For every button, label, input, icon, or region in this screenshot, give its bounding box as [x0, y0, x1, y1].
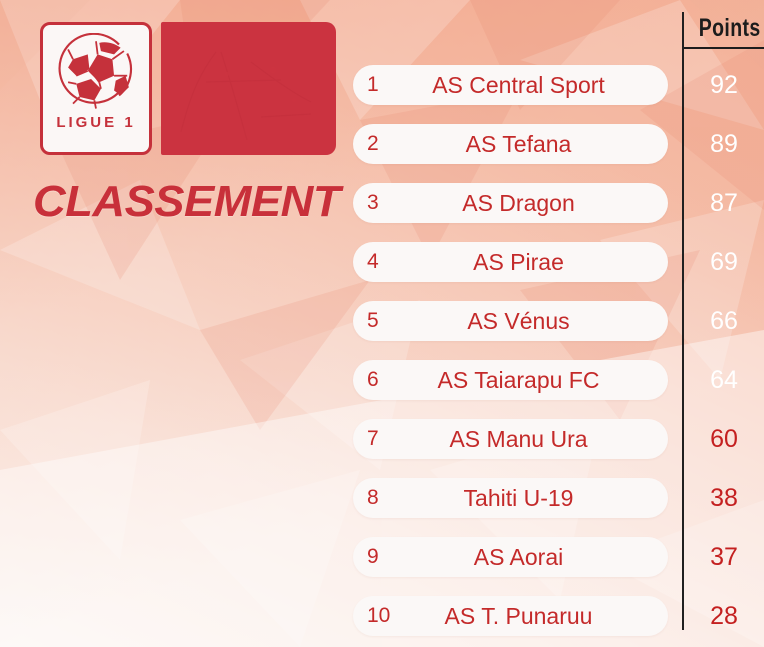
row-points: 87 — [684, 183, 764, 223]
page-title: CLASSEMENT — [33, 180, 340, 224]
row-rank: 6 — [367, 360, 379, 400]
row-team-name: AS Taiarapu FC — [353, 367, 668, 394]
table-row[interactable]: 1AS Central Sport — [353, 65, 668, 105]
table-row[interactable]: 7AS Manu Ura — [353, 419, 668, 459]
table-row[interactable]: 5AS Vénus — [353, 301, 668, 341]
table-row[interactable]: 6AS Taiarapu FC — [353, 360, 668, 400]
row-team-name: AS Vénus — [353, 308, 668, 335]
row-points: 37 — [684, 537, 764, 577]
banner-texture — [161, 22, 336, 155]
table-row[interactable]: 9AS Aorai — [353, 537, 668, 577]
table-row[interactable]: 4AS Pirae — [353, 242, 668, 282]
points-header-label: Points — [699, 14, 761, 43]
row-team-name: AS Manu Ura — [353, 426, 668, 453]
row-team-name: AS Pirae — [353, 249, 668, 276]
points-header-underline — [683, 47, 764, 49]
row-rank: 3 — [367, 183, 379, 223]
brand-block: LIGUE 1 — [40, 22, 336, 155]
row-points: 89 — [684, 124, 764, 164]
league-banner — [161, 22, 336, 155]
row-team-name: Tahiti U-19 — [353, 485, 668, 512]
row-points: 69 — [684, 242, 764, 282]
table-row[interactable]: 2AS Tefana — [353, 124, 668, 164]
row-points: 64 — [684, 360, 764, 400]
standings-graphic: LIGUE 1 CLASSEMENT Points — [0, 0, 764, 647]
row-team-name: AS Tefana — [353, 131, 668, 158]
row-team-name: AS Aorai — [353, 544, 668, 571]
soccer-ball-icon — [54, 33, 138, 111]
row-rank: 10 — [367, 596, 390, 636]
table-row[interactable]: 8Tahiti U-19 — [353, 478, 668, 518]
row-rank: 1 — [367, 65, 379, 105]
table-row[interactable]: 3AS Dragon — [353, 183, 668, 223]
row-team-name: AS Central Sport — [353, 72, 668, 99]
row-rank: 4 — [367, 242, 379, 282]
ligue1-label: LIGUE 1 — [56, 114, 135, 131]
standings-list: 1AS Central Sport2AS Tefana3AS Dragon4AS… — [353, 65, 668, 647]
points-column-header: Points — [690, 14, 762, 43]
row-rank: 8 — [367, 478, 379, 518]
row-team-name: AS T. Punaruu — [353, 603, 668, 630]
table-row[interactable]: 10AS T. Punaruu — [353, 596, 668, 636]
row-points: 92 — [684, 65, 764, 105]
row-team-name: AS Dragon — [353, 190, 668, 217]
row-rank: 5 — [367, 301, 379, 341]
ligue1-logo: LIGUE 1 — [40, 22, 152, 155]
row-rank: 9 — [367, 537, 379, 577]
row-points: 66 — [684, 301, 764, 341]
row-points: 38 — [684, 478, 764, 518]
row-points: 60 — [684, 419, 764, 459]
row-rank: 2 — [367, 124, 379, 164]
row-points: 28 — [684, 596, 764, 636]
row-rank: 7 — [367, 419, 379, 459]
